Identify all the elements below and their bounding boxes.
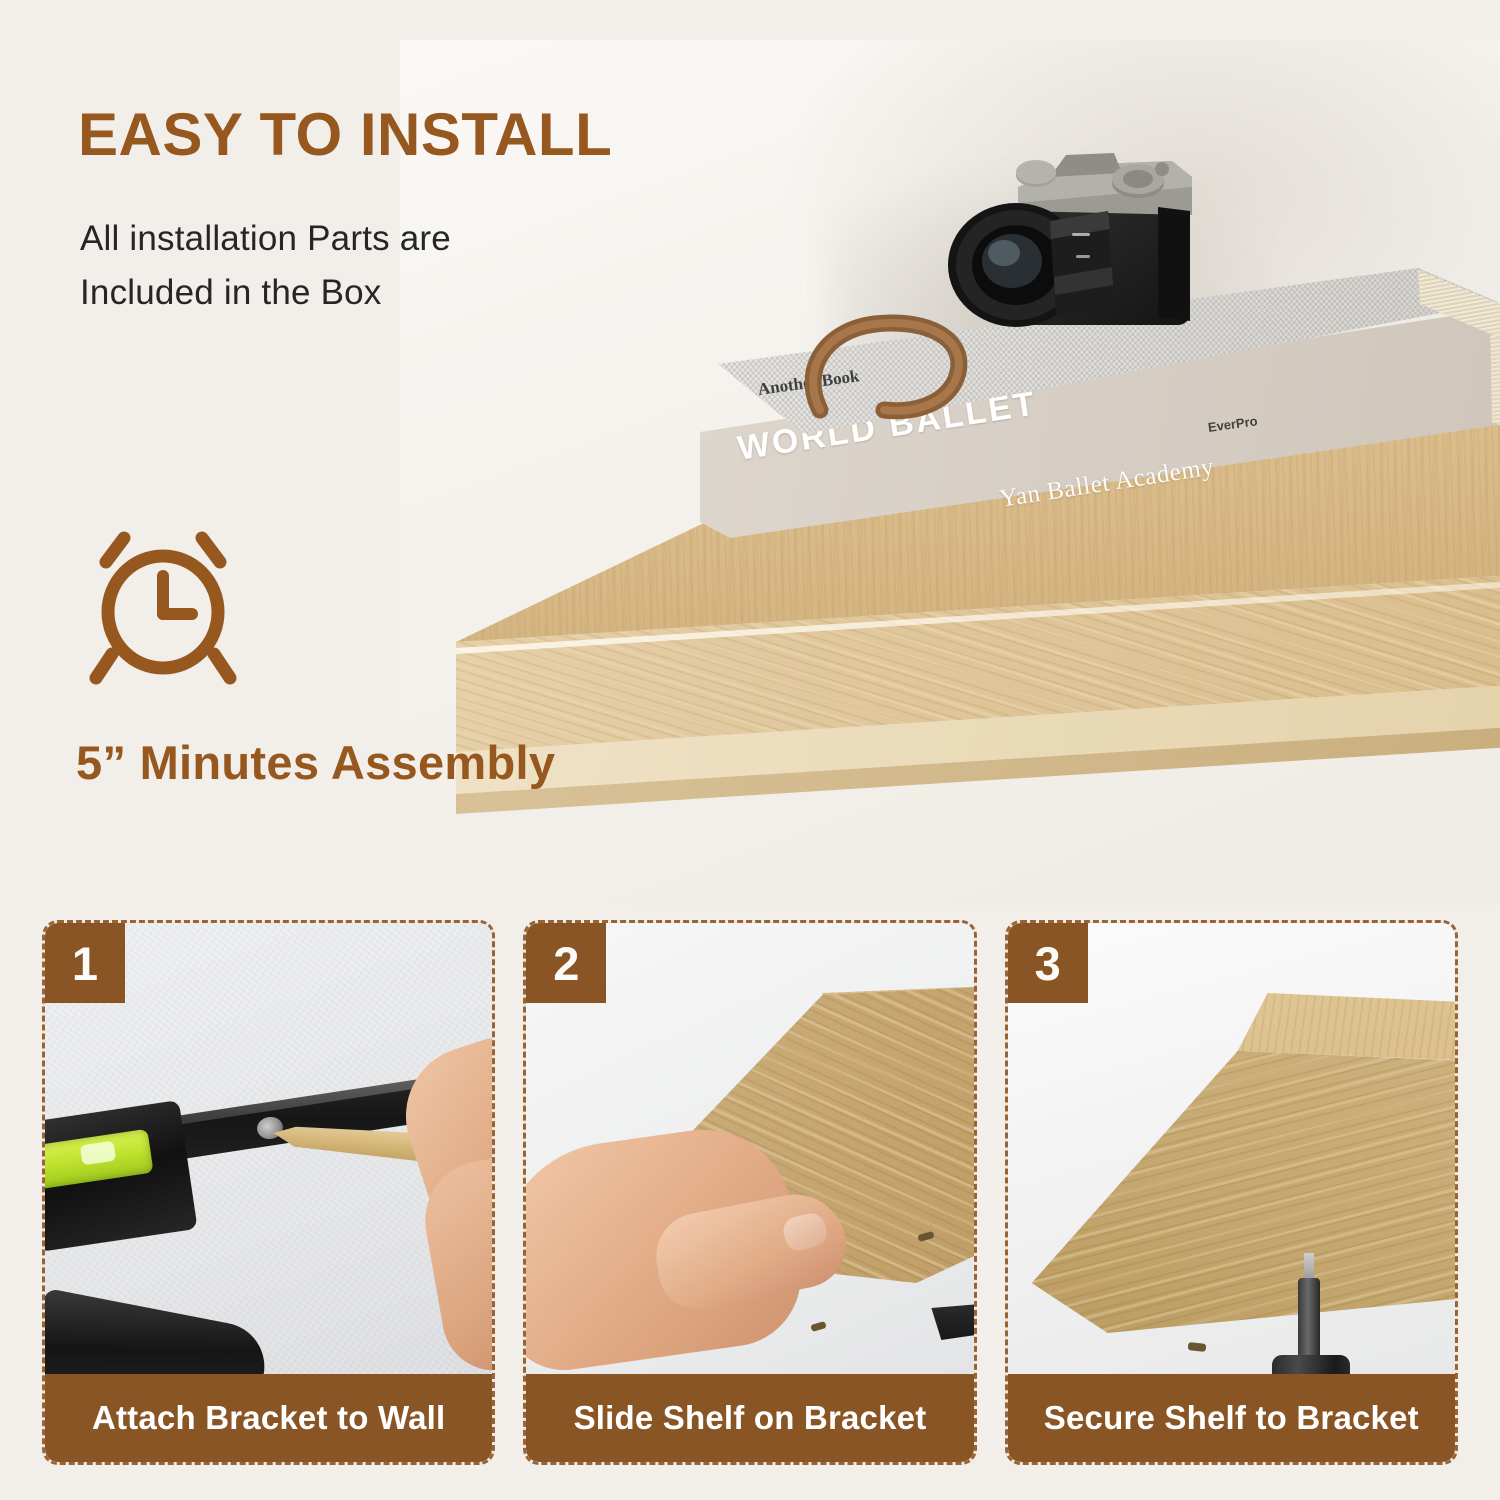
drill-bit [1298,1278,1320,1360]
hero-product-photo: WORLD BALLET Yan Ballet Academy Another … [400,40,1500,905]
hero-subheading-line-1: All installation Parts are [80,212,451,266]
hero-section: WORLD BALLET Yan Ballet Academy Another … [0,0,1500,905]
mirrorless-camera [900,125,1230,375]
step-caption-2: Slide Shelf on Bracket [526,1374,973,1462]
step-card-3: 15 20 3 Secure Shelf to Bracket [1005,920,1458,1465]
step-caption-3: Secure Shelf to Bracket [1008,1374,1455,1462]
hero-subheading: All installation Parts are Included in t… [80,212,451,321]
installation-steps: 1 Attach Bracket to Wall 2 Slide Shelf o… [42,920,1458,1465]
step-number-badge-2: 2 [526,923,606,1003]
page-title: EASY TO INSTALL [78,103,612,166]
assembly-time-text: 5” Minutes Assembly [76,735,555,790]
step-number-badge-1: 1 [45,923,125,1003]
step-caption-1: Attach Bracket to Wall [45,1374,492,1462]
hero-subheading-line-2: Included in the Box [80,266,451,320]
step-number-badge-3: 3 [1008,923,1088,1003]
step-card-2: 2 Slide Shelf on Bracket [523,920,976,1465]
upper-book-brand-mark: EverPro [1207,413,1258,435]
alarm-clock-icon [78,518,248,693]
step-card-1: 1 Attach Bracket to Wall [42,920,495,1465]
